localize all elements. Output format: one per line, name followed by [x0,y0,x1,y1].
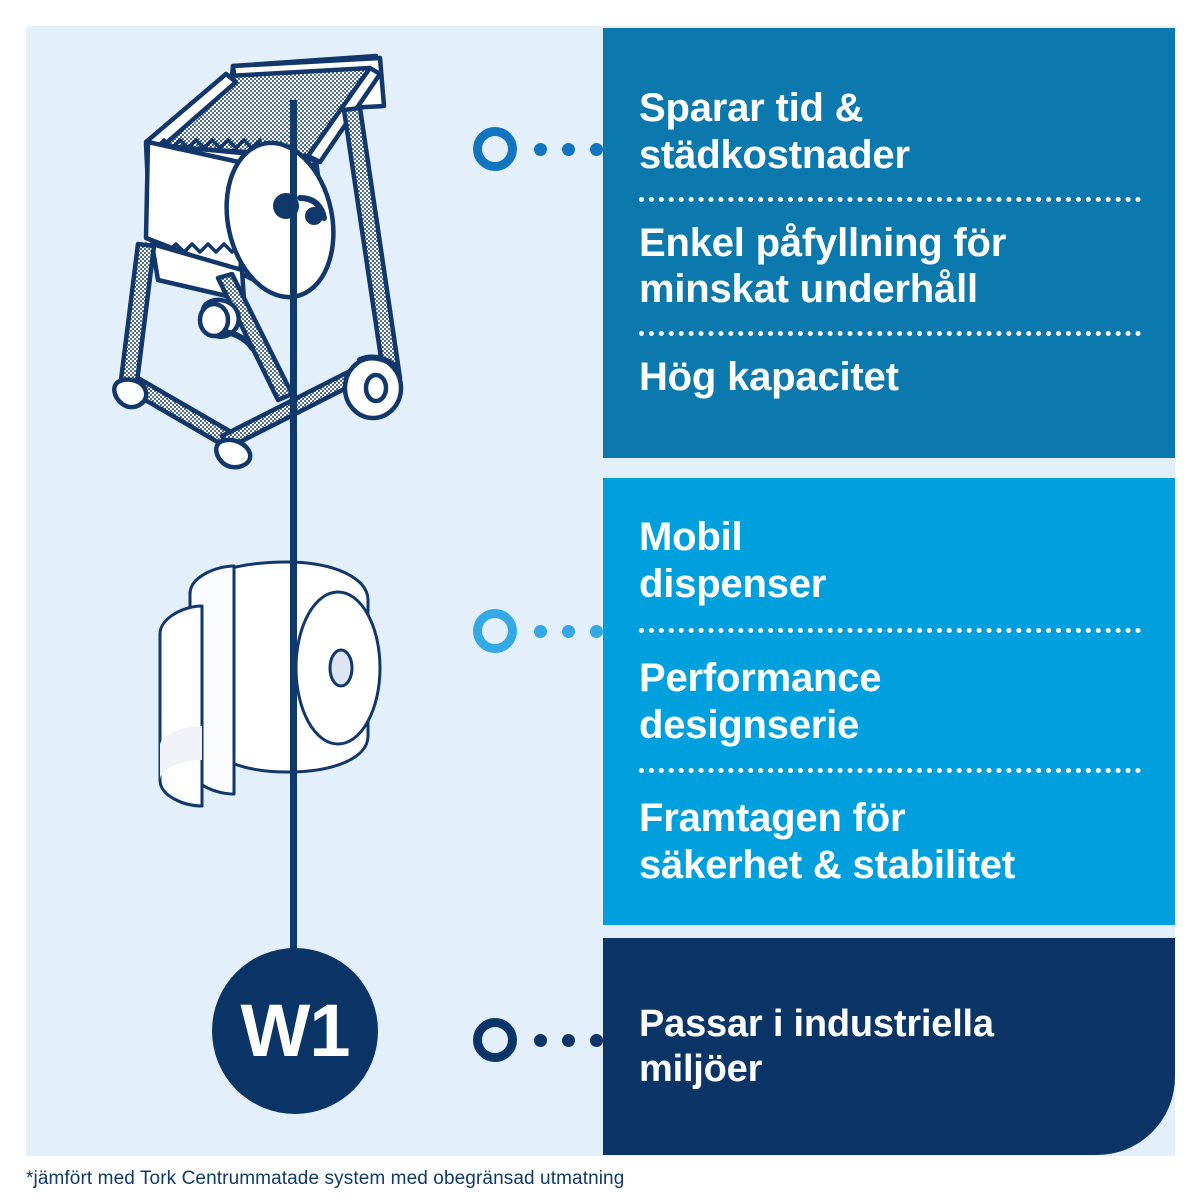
feature-item: Passar i industriella miljöer [639,1002,1141,1091]
feature-item: Enkel påfyllning för minskat underhåll [639,220,1141,314]
feature-line: Hög kapacitet [639,354,1141,401]
leader-dot [534,143,547,156]
feature-divider [639,331,1141,336]
feature-line: designserie [639,702,1141,749]
leader-dot [534,625,547,638]
feature-line: Enkel påfyllning för [639,220,1141,267]
feature-line: minskat underhåll [639,266,1141,313]
circle-ring-icon [473,1018,517,1062]
leader-dot [562,143,575,156]
feature-item: Sparar tid & städkostnader [639,85,1141,179]
vertical-connector-line [290,100,297,1040]
feature-line: Passar i industriella [639,1002,1141,1046]
circle-ring-icon [473,127,517,171]
w1-badge-label: W1 [241,994,350,1068]
paper-roll-illustration [138,548,408,816]
leader-dot [590,1034,603,1047]
w1-system-badge: W1 [212,948,378,1114]
feature-line: säkerhet & stabilitet [639,842,1141,889]
leader-dot [562,625,575,638]
feature-line: Mobil [639,514,1141,561]
leader-dot [590,625,603,638]
feature-line: Framtagen för [639,795,1141,842]
leader-dot [534,1034,547,1047]
feature-item: Hög kapacitet [639,354,1141,401]
feature-divider [639,197,1141,202]
benefits-panel-primary: Sparar tid & städkostnader Enkel påfylln… [603,28,1175,458]
leader-dot [562,1034,575,1047]
feature-line: Sparar tid & [639,85,1141,132]
benefits-panel-secondary: Mobil dispenser Performance designserie … [603,478,1175,925]
feature-line: miljöer [639,1047,1141,1091]
mobile-dispenser-illustration [108,48,438,478]
feature-line: dispenser [639,561,1141,608]
benefits-panel-environment: Passar i industriella miljöer [603,938,1175,1155]
feature-divider [639,768,1141,773]
circle-ring-icon [473,609,517,653]
infographic-stage: W1 Sparar tid & städko [0,0,1200,1200]
feature-line: Performance [639,655,1141,702]
leader-dot [590,143,603,156]
feature-line: städkostnader [639,132,1141,179]
footnote-text: *jämfört med Tork Centrummatade system m… [26,1168,624,1190]
feature-item: Framtagen för säkerhet & stabilitet [639,795,1141,889]
feature-item: Mobil dispenser [639,514,1141,608]
feature-item: Performance designserie [639,655,1141,749]
feature-divider [639,628,1141,633]
